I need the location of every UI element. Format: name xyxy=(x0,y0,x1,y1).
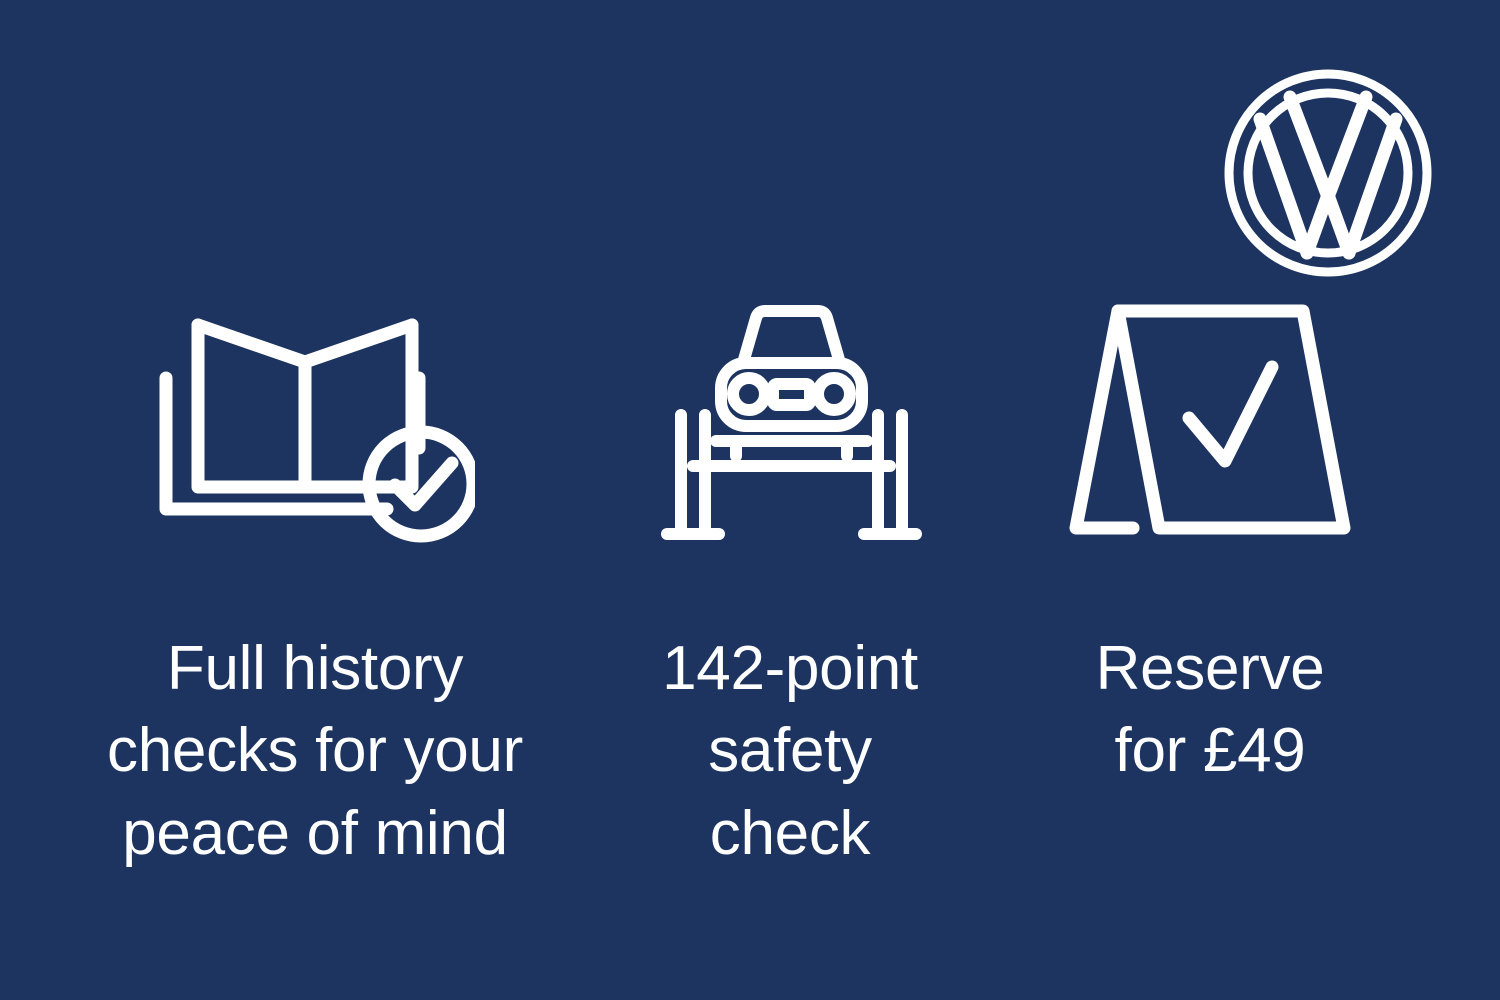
lift-ramp-icon xyxy=(693,441,890,466)
feature-item-safety: 142-point safety check xyxy=(630,300,950,920)
feature-item-history: Full history checks for your peace of mi… xyxy=(0,300,630,920)
car-on-lift-icon-svg xyxy=(659,300,924,550)
feature-caption-safety: 142-point safety check xyxy=(590,628,990,875)
feature-list: Full history checks for your peace of mi… xyxy=(0,300,1500,920)
volkswagen-logo-svg xyxy=(1222,67,1434,279)
lift-posts-icon xyxy=(667,415,916,534)
reserve-card-check-icon-svg xyxy=(1065,300,1355,550)
car-on-lift-icon xyxy=(659,300,924,550)
check-icon xyxy=(1189,367,1272,461)
open-book-check-icon xyxy=(155,300,475,550)
feature-item-reserve: Reserve for £49 xyxy=(950,300,1500,920)
promo-banner: Full history checks for your peace of mi… xyxy=(0,0,1500,1000)
volkswagen-logo xyxy=(1222,67,1434,279)
reserve-card-check-icon xyxy=(1065,300,1355,550)
feature-caption-history: Full history checks for your peace of mi… xyxy=(35,628,595,875)
open-book-check-icon-svg xyxy=(155,300,475,550)
feature-caption-reserve: Reserve for £49 xyxy=(1000,628,1420,793)
